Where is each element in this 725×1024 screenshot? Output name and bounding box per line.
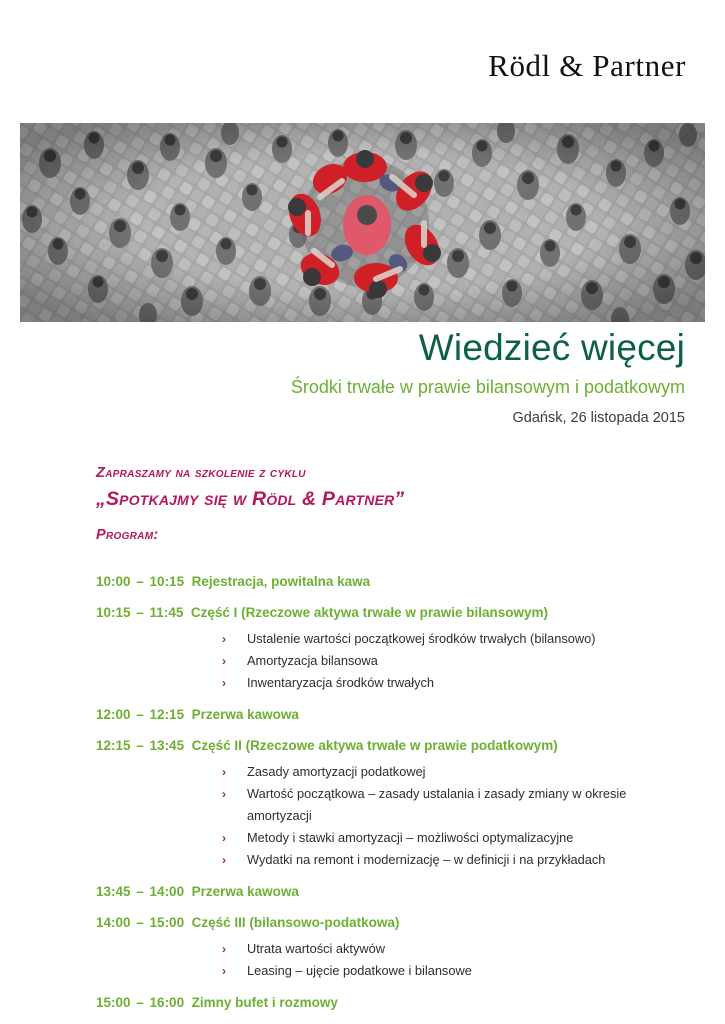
program-time-end: 10:15 — [150, 574, 185, 589]
page-subtitle: Środki trwałe w prawie bilansowym i poda… — [20, 374, 685, 400]
program-time-end: 15:00 — [150, 915, 185, 930]
program-sub-list: ›Zasady amortyzacji podatkowej›Wartość p… — [96, 761, 686, 871]
crowd-aerial-photo — [20, 123, 705, 322]
program-label: Program: — [96, 527, 158, 543]
program-sub-list: ›Utrata wartości aktywów›Leasing – ujęci… — [96, 938, 686, 982]
program-sub-item-label: Amortyzacja bilansowa — [247, 650, 378, 672]
chevron-bullet-icon: › — [222, 650, 247, 672]
banner-image — [20, 123, 705, 322]
chevron-bullet-icon: › — [222, 628, 247, 650]
program-entry-heading: 12:00 – 12:15 Przerwa kawowa — [96, 705, 686, 725]
program-entry-title: Przerwa kawowa — [184, 707, 299, 722]
page-title: Wiedzieć więcej — [20, 326, 685, 370]
chevron-bullet-icon: › — [222, 849, 247, 871]
program-entry-title: Przerwa kawowa — [184, 884, 299, 899]
program-time-end: 12:15 — [150, 707, 185, 722]
program-sub-item: ›Metody i stawki amortyzacji – możliwośc… — [96, 827, 686, 849]
program-entry-title: Część III (bilansowo-podatkowa) — [184, 915, 399, 930]
program-entry-title: Zimny bufet i rozmowy — [184, 995, 338, 1010]
program-entry-heading: 10:15 – 11:45 Część I (Rzeczowe aktywa t… — [96, 603, 686, 623]
program-sub-item: ›Zasady amortyzacji podatkowej — [96, 761, 686, 783]
program-time-separator: – — [131, 915, 150, 930]
program-sub-item: ›Utrata wartości aktywów — [96, 938, 686, 960]
program-time-separator: – — [131, 738, 150, 753]
program-time-separator: – — [131, 605, 150, 620]
program-sub-item: ›Wydatki na remont i modernizację – w de… — [96, 849, 686, 871]
invitation-series-title: „Spotkajmy się w Rödl & Partner” — [96, 486, 676, 512]
program-sub-item-label: Inwentaryzacja środków trwałych — [247, 672, 434, 694]
program-time-separator: – — [131, 884, 150, 899]
program-sub-item-label: Ustalenie wartości początkowej środków t… — [247, 628, 596, 650]
chevron-bullet-icon: › — [222, 672, 247, 694]
program-sub-item-label: Leasing – ujęcie podatkowe i bilansowe — [247, 960, 472, 982]
program-time-separator: – — [131, 707, 150, 722]
program-time-start: 12:15 — [96, 738, 131, 753]
program-sub-item: ›Leasing – ujęcie podatkowe i bilansowe — [96, 960, 686, 982]
event-date: Gdańsk, 26 listopada 2015 — [20, 407, 685, 429]
chevron-bullet-icon: › — [222, 761, 247, 783]
program-sub-list: ›Ustalenie wartości początkowej środków … — [96, 628, 686, 694]
program-entry-heading: 14:00 – 15:00 Część III (bilansowo-podat… — [96, 913, 686, 933]
program-entry-heading: 13:45 – 14:00 Przerwa kawowa — [96, 882, 686, 902]
program-entry: 10:00 – 10:15 Rejestracja, powitalna kaw… — [96, 572, 686, 592]
program-entry-heading: 12:15 – 13:45 Część II (Rzeczowe aktywa … — [96, 736, 686, 756]
program-sub-item: ›Ustalenie wartości początkowej środków … — [96, 628, 686, 650]
title-block: Wiedzieć więcej Środki trwałe w prawie b… — [20, 326, 685, 429]
program-time-start: 13:45 — [96, 884, 131, 899]
program-entry-title: Rejestracja, powitalna kawa — [184, 574, 370, 589]
program-entry-heading: 15:00 – 16:00 Zimny bufet i rozmowy — [96, 993, 686, 1013]
program-entry: 13:45 – 14:00 Przerwa kawowa — [96, 882, 686, 902]
chevron-bullet-icon: › — [222, 783, 247, 805]
program-entry: 10:15 – 11:45 Część I (Rzeczowe aktywa t… — [96, 603, 686, 694]
program-time-start: 12:00 — [96, 707, 131, 722]
program-sub-item: ›Inwentaryzacja środków trwałych — [96, 672, 686, 694]
program-entry: 12:00 – 12:15 Przerwa kawowa — [96, 705, 686, 725]
program-time-end: 16:00 — [150, 995, 185, 1010]
program-entry-title: Część II (Rzeczowe aktywa trwałe w prawi… — [184, 738, 558, 753]
program-time-start: 10:15 — [96, 605, 131, 620]
program-sub-item: ›Wartość początkowa – zasady ustalania i… — [96, 783, 686, 827]
program-sub-item-label: Wydatki na remont i modernizację – w def… — [247, 849, 605, 871]
program-entry: 15:00 – 16:00 Zimny bufet i rozmowy — [96, 993, 686, 1013]
program-entry: 14:00 – 15:00 Część III (bilansowo-podat… — [96, 913, 686, 982]
company-logo: Rödl & Partner — [488, 48, 686, 84]
program-sub-item-label: Utrata wartości aktywów — [247, 938, 385, 960]
program-list: 10:00 – 10:15 Rejestracja, powitalna kaw… — [96, 572, 686, 1024]
program-entry: 12:15 – 13:45 Część II (Rzeczowe aktywa … — [96, 736, 686, 871]
program-entry-title: Część I (Rzeczowe aktywa trwałe w prawie… — [183, 605, 548, 620]
program-time-end: 11:45 — [150, 605, 184, 620]
chevron-bullet-icon: › — [222, 827, 247, 849]
invitation-intro: Zapraszamy na szkolenie z cyklu — [96, 464, 676, 483]
program-time-separator: – — [131, 574, 150, 589]
program-entry-heading: 10:00 – 10:15 Rejestracja, powitalna kaw… — [96, 572, 686, 592]
program-sub-item: ›Amortyzacja bilansowa — [96, 650, 686, 672]
program-time-end: 14:00 — [150, 884, 185, 899]
program-time-start: 14:00 — [96, 915, 131, 930]
program-sub-item-label: Metody i stawki amortyzacji – możliwości… — [247, 827, 573, 849]
chevron-bullet-icon: › — [222, 938, 247, 960]
invitation-block: Zapraszamy na szkolenie z cyklu „Spotkaj… — [96, 464, 676, 512]
program-time-end: 13:45 — [150, 738, 185, 753]
program-sub-item-label: Zasady amortyzacji podatkowej — [247, 761, 426, 783]
chevron-bullet-icon: › — [222, 960, 247, 982]
program-time-start: 15:00 — [96, 995, 131, 1010]
program-time-separator: – — [131, 995, 150, 1010]
page-header: Rödl & Partner — [0, 0, 725, 112]
program-time-start: 10:00 — [96, 574, 131, 589]
program-sub-item-label: Wartość początkowa – zasady ustalania i … — [247, 783, 686, 827]
